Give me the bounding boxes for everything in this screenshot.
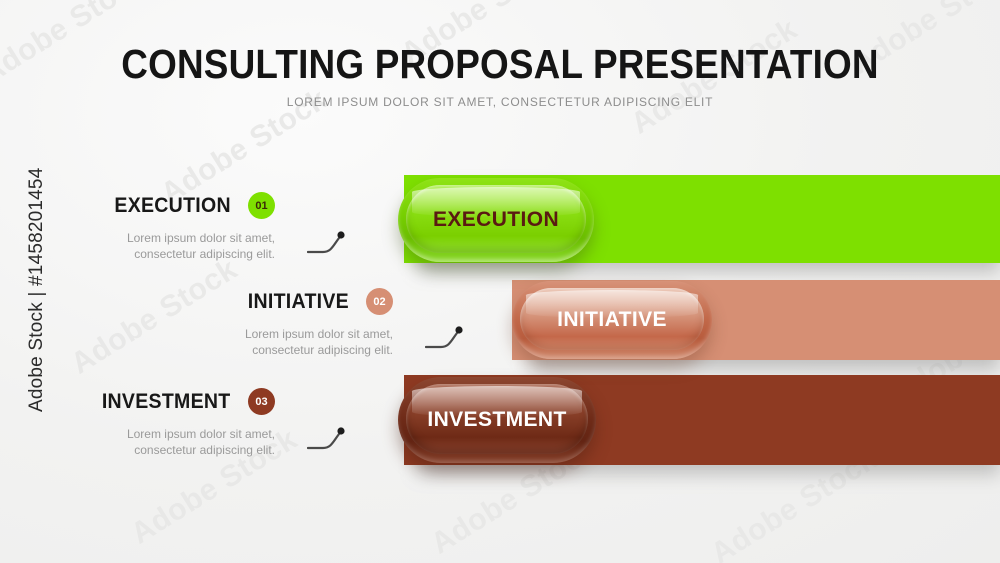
badge-03-text: 03 <box>255 396 267 408</box>
heading-execution: EXECUTION <box>114 194 230 218</box>
description-initiative: Lorem ipsum dolor sit amet, consectetur … <box>218 326 393 358</box>
page-title: CONSULTING PROPOSAL PRESENTATION <box>50 42 950 86</box>
connector-arrow-investment <box>307 424 357 454</box>
pill-label-investment: INVESTMENT <box>427 408 566 432</box>
pill-label-initiative: INITIATIVE <box>557 308 667 332</box>
badge-01: 01 <box>248 192 275 219</box>
side-block-execution: EXECUTION 01 Lorem ipsum dolor sit amet,… <box>95 192 275 262</box>
page-subtitle: LOREM IPSUM DOLOR SIT AMET, CONSECTETUR … <box>0 95 1000 109</box>
header: CONSULTING PROPOSAL PRESENTATION LOREM I… <box>0 42 1000 109</box>
heading-initiative: INITIATIVE <box>248 290 349 314</box>
connector-arrow-initiative <box>425 323 475 353</box>
badge-03: 03 <box>248 388 275 415</box>
adobe-stock-attribution-text: Adobe Stock | #1458201454 <box>26 162 48 412</box>
heading-investment: INVESTMENT <box>101 390 230 414</box>
heading-line-investment: INVESTMENT 03 <box>95 388 275 415</box>
adobe-stock-attribution: Adobe Stock | #1458201454 <box>4 0 44 563</box>
side-block-investment: INVESTMENT 03 Lorem ipsum dolor sit amet… <box>95 388 275 458</box>
description-execution: Lorem ipsum dolor sit amet, consectetur … <box>100 230 275 262</box>
heading-line-execution: EXECUTION 01 <box>95 192 275 219</box>
heading-line-initiative: INITIATIVE 02 <box>213 288 393 315</box>
infographic-canvas: Adobe Stock Adobe Stock Adobe Stock Adob… <box>0 0 1000 563</box>
connector-arrow-execution <box>307 228 357 258</box>
badge-02-text: 02 <box>373 296 385 308</box>
description-investment: Lorem ipsum dolor sit amet, consectetur … <box>100 426 275 458</box>
badge-02: 02 <box>366 288 393 315</box>
pill-investment[interactable]: INVESTMENT <box>398 377 596 463</box>
pill-initiative[interactable]: INITIATIVE <box>512 281 712 359</box>
pill-execution[interactable]: EXECUTION <box>398 178 594 262</box>
pill-label-execution: EXECUTION <box>433 208 559 232</box>
badge-01-text: 01 <box>255 200 267 212</box>
side-block-initiative: INITIATIVE 02 Lorem ipsum dolor sit amet… <box>213 288 393 358</box>
